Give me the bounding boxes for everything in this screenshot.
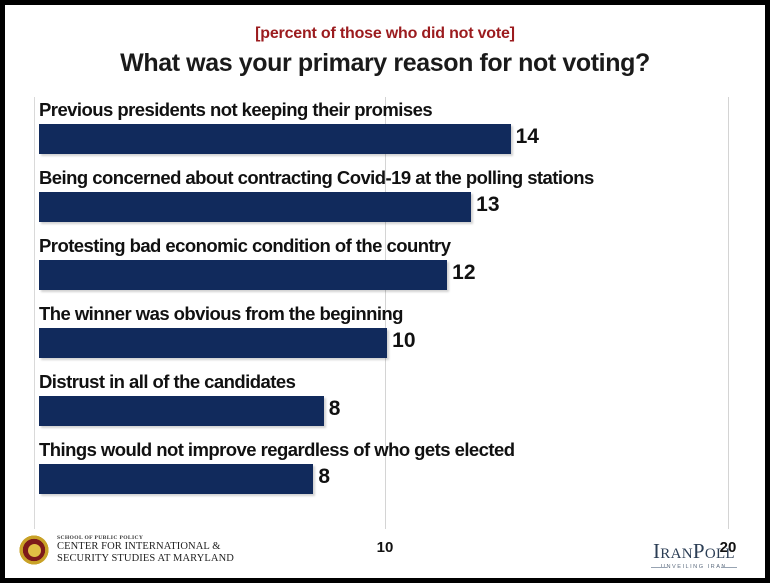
- bar-value-label: 8: [329, 397, 341, 421]
- bar[interactable]: [39, 124, 511, 154]
- bar-value-label: 8: [318, 465, 330, 489]
- bar-row: Being concerned about contracting Covid-…: [34, 165, 744, 233]
- bar-category-label: Distrust in all of the candidates: [39, 371, 295, 393]
- page-title: What was your primary reason for not vot…: [5, 49, 765, 78]
- bar-rows: Previous presidents not keeping their pr…: [34, 97, 744, 529]
- bar-row: The winner was obvious from the beginnin…: [34, 301, 744, 369]
- bar-row: Distrust in all of the candidates8: [34, 369, 744, 437]
- university-seal-icon: [17, 533, 51, 567]
- bar[interactable]: [39, 396, 324, 426]
- slide-container: [percent of those who did not vote] What…: [0, 0, 770, 583]
- bar[interactable]: [39, 192, 471, 222]
- bar-value-label: 13: [476, 193, 499, 217]
- bar-category-label: Protesting bad economic condition of the…: [39, 235, 450, 257]
- bar[interactable]: [39, 328, 387, 358]
- bar-category-label: Previous presidents not keeping their pr…: [39, 99, 432, 121]
- umd-center-line-2: SECURITY STUDIES AT MARYLAND: [57, 553, 234, 565]
- bar-row: Things would not improve regardless of w…: [34, 437, 744, 505]
- x-tick-10: 10: [377, 539, 394, 556]
- chart-subtitle: [percent of those who did not vote]: [5, 25, 765, 43]
- bar-track: 8: [39, 464, 744, 494]
- bar-track: 8: [39, 396, 744, 426]
- iranpoll-wordmark: IranPoll: [653, 541, 735, 562]
- iranpoll-logo: IranPoll UNVEILING IRAN: [653, 541, 735, 570]
- bar-track: 12: [39, 260, 744, 290]
- umd-cissm-logo: SCHOOL OF PUBLIC POLICY CENTER FOR INTER…: [17, 533, 234, 567]
- bar[interactable]: [39, 260, 447, 290]
- bar-track: 13: [39, 192, 744, 222]
- bar-value-label: 14: [516, 125, 539, 149]
- iranpoll-tagline: UNVEILING IRAN: [653, 564, 735, 570]
- bar[interactable]: [39, 464, 313, 494]
- bar-track: 10: [39, 328, 744, 358]
- bar-category-label: Being concerned about contracting Covid-…: [39, 167, 594, 189]
- bar-value-label: 10: [392, 329, 415, 353]
- bar-row: Protesting bad economic condition of the…: [34, 233, 744, 301]
- bar-value-label: 12: [452, 261, 475, 285]
- umd-center-line-1: CENTER FOR INTERNATIONAL &: [57, 541, 234, 553]
- chart-plot-area: Previous presidents not keeping their pr…: [34, 97, 744, 529]
- bar-track: 14: [39, 124, 744, 154]
- bar-category-label: The winner was obvious from the beginnin…: [39, 303, 403, 325]
- bar-row: Previous presidents not keeping their pr…: [34, 97, 744, 165]
- bar-category-label: Things would not improve regardless of w…: [39, 439, 515, 461]
- umd-logo-text: SCHOOL OF PUBLIC POLICY CENTER FOR INTER…: [57, 535, 234, 565]
